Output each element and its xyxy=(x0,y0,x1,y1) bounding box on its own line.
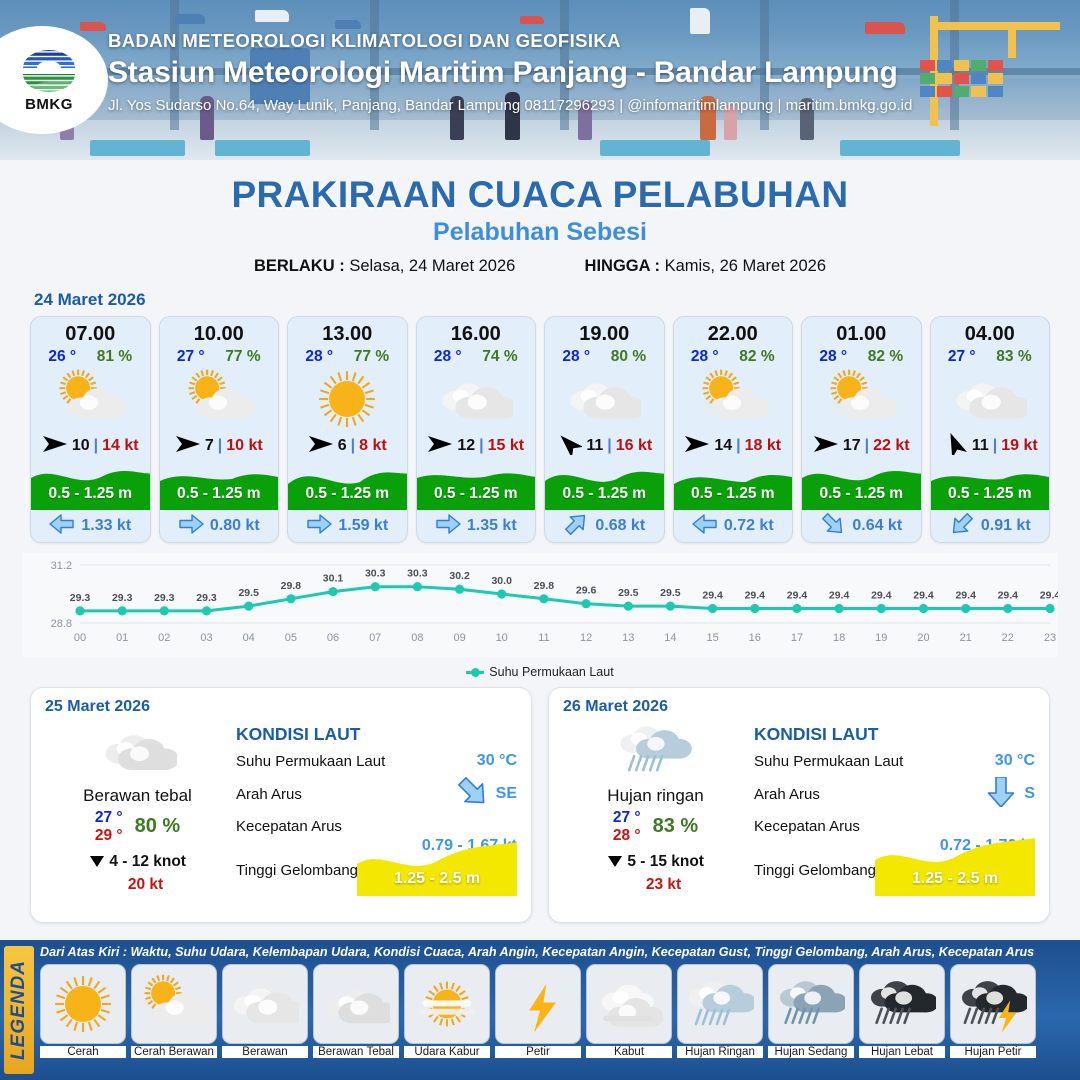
crane-arm-icon xyxy=(930,22,1060,30)
card-temp-humidity: 26 ° 81 % xyxy=(31,346,150,366)
svg-text:29.4: 29.4 xyxy=(702,590,723,602)
hujan-lebat-icon xyxy=(859,964,945,1044)
container-icon xyxy=(937,73,952,84)
card-wave-height: 0.5 - 1.25 m xyxy=(931,485,1050,503)
container-icon xyxy=(920,60,935,71)
sst-label: Suhu Permukaan Laut xyxy=(236,753,385,770)
svg-text:01: 01 xyxy=(116,632,128,644)
day-temp-min: 27 ° xyxy=(613,809,641,827)
legend-item-label: Hujan Petir xyxy=(950,1046,1036,1058)
day-humidity: 83 % xyxy=(653,815,699,838)
day-temp-max: 29 ° xyxy=(95,827,123,845)
legend-item: Hujan Lebat xyxy=(859,964,945,1058)
berawan-icon xyxy=(222,964,308,1044)
svg-text:29.5: 29.5 xyxy=(238,587,259,599)
chart-legend-label: Suhu Permukaan Laut xyxy=(489,665,613,679)
legend-item-label: Petir xyxy=(495,1046,581,1058)
card-humidity: 77 % xyxy=(225,348,260,366)
card-humidity: 80 % xyxy=(611,348,646,366)
svg-text:29.4: 29.4 xyxy=(745,590,766,602)
svg-text:18: 18 xyxy=(833,632,845,644)
current-direction-value: SE xyxy=(496,785,517,803)
card-gust: 19 kt xyxy=(1001,437,1037,455)
chart-legend: Suhu Permukaan Laut xyxy=(0,665,1080,679)
cerah-icon xyxy=(40,964,126,1044)
forecast-date-heading: 24 Maret 2026 xyxy=(34,290,1080,310)
svg-text:29.4: 29.4 xyxy=(913,590,934,602)
container-icon xyxy=(988,73,1003,84)
card-temp-humidity: 28 ° 80 % xyxy=(545,346,664,366)
day-wind: 4 - 12 knot xyxy=(45,853,230,873)
valid-to-value: Kamis, 26 Maret 2026 xyxy=(665,257,826,275)
svg-text:06: 06 xyxy=(327,632,339,644)
svg-text:29.4: 29.4 xyxy=(787,590,808,602)
legend-item-label: Hujan Ringan xyxy=(677,1046,763,1058)
svg-text:21: 21 xyxy=(960,632,972,644)
card-wave: 0.5 - 1.25 m xyxy=(674,460,793,510)
svg-text:30.3: 30.3 xyxy=(365,568,386,580)
chart-legend-marker xyxy=(466,671,484,674)
contact-line: Jl. Yos Sudarso No.64, Way Lunik, Panjan… xyxy=(108,97,912,114)
legend-item-label: Hujan Sedang xyxy=(768,1046,854,1058)
svg-text:16: 16 xyxy=(749,632,761,644)
current-direction-arrow-icon xyxy=(820,513,846,540)
sea-condition-block: KONDISI LAUT Suhu Permukaan Laut 30 °C A… xyxy=(748,716,1035,894)
hourly-forecast-row: 07.00 26 ° 81 % 10 | 14 kt 0.5 - 1.25 m xyxy=(0,316,1080,543)
valid-from-value: Selasa, 24 Maret 2026 xyxy=(349,257,515,275)
day-left-block: Berawan tebal 27 ° 29 ° 80 % 4 - 12 knot… xyxy=(45,716,230,894)
container-icon xyxy=(971,86,986,97)
card-wind: 11 | 16 kt xyxy=(545,432,664,460)
cerah-berawan-icon xyxy=(802,366,921,432)
card-humidity: 82 % xyxy=(739,348,774,366)
card-wave-height: 0.5 - 1.25 m xyxy=(417,485,536,503)
card-current-speed: 0.68 kt xyxy=(595,517,645,535)
svg-text:09: 09 xyxy=(453,632,465,644)
current-direction-value: S xyxy=(1024,785,1035,803)
card-temperature: 27 ° xyxy=(177,348,205,366)
forecast-card: 04.00 27 ° 83 % 11 | 19 kt 0 xyxy=(930,316,1051,543)
waiting-chairs-icon xyxy=(90,140,185,156)
port-name: Pelabuhan Sebesi xyxy=(0,218,1080,247)
legend-item-label: Udara Kabur xyxy=(404,1046,490,1058)
card-current-speed: 0.91 kt xyxy=(981,517,1031,535)
cerah-berawan-icon xyxy=(674,366,793,432)
cerah-berawan-icon xyxy=(31,366,150,432)
forecast-card: 10.00 27 ° 77 % 7 | 10 kt 0.5 - 1.25 m xyxy=(159,316,280,543)
card-time: 04.00 xyxy=(931,317,1050,346)
day-temp-max: 28 ° xyxy=(613,827,641,845)
bmkg-logo-mark xyxy=(21,48,77,94)
card-wind-speed: 10 xyxy=(72,437,90,455)
current-direction-arrow-icon xyxy=(435,513,461,540)
boat-icon xyxy=(80,22,106,31)
svg-text:04: 04 xyxy=(243,632,255,644)
daily-forecast-row: 25 Maret 2026 Berawan tebal 27 ° 29 ° 80… xyxy=(0,679,1080,923)
legend-tab: LEGENDA xyxy=(4,946,34,1074)
card-temp-humidity: 27 ° 77 % xyxy=(160,346,279,366)
legend-tab-label: LEGENDA xyxy=(8,960,30,1060)
svg-text:00: 00 xyxy=(74,632,86,644)
forecast-card: 19.00 28 ° 80 % 11 | 16 kt 0 xyxy=(544,316,665,543)
day-wind-range: 5 - 15 knot xyxy=(627,853,704,870)
svg-text:14: 14 xyxy=(664,632,676,644)
wind-direction-arrow-icon xyxy=(308,433,334,460)
cerah-icon xyxy=(288,366,407,432)
card-wind-speed: 11 xyxy=(972,437,989,455)
legend-item: Hujan Petir xyxy=(950,964,1036,1058)
card-temp-humidity: 28 ° 82 % xyxy=(674,346,793,366)
wind-direction-arrow-icon xyxy=(942,433,968,460)
hujan-ringan-icon xyxy=(563,718,748,782)
card-wind: 10 | 14 kt xyxy=(31,432,150,460)
svg-text:29.3: 29.3 xyxy=(154,592,175,604)
card-temp-humidity: 28 ° 77 % xyxy=(288,346,407,366)
card-gust: 22 kt xyxy=(873,437,909,455)
day-date: 26 Maret 2026 xyxy=(563,698,1035,716)
day-humidity: 80 % xyxy=(135,815,181,838)
legend-item: Hujan Sedang xyxy=(768,964,854,1058)
card-current-speed: 1.59 kt xyxy=(338,517,388,535)
agency-name: BADAN METEOROLOGI KLIMATOLOGI DAN GEOFIS… xyxy=(108,30,912,52)
card-temp-humidity: 28 ° 82 % xyxy=(802,346,921,366)
svg-text:29.5: 29.5 xyxy=(618,587,639,599)
crane-icon xyxy=(930,16,938,126)
wind-separator: | xyxy=(479,437,483,455)
card-wind: 7 | 10 kt xyxy=(160,432,279,460)
card-current: 0.80 kt xyxy=(160,510,279,542)
day-wind-range: 4 - 12 knot xyxy=(109,853,186,870)
card-wind-speed: 7 xyxy=(205,437,214,455)
card-wind: 17 | 22 kt xyxy=(802,432,921,460)
card-time: 22.00 xyxy=(674,317,793,346)
container-icon xyxy=(937,86,952,97)
legend-item: Berawan xyxy=(222,964,308,1058)
svg-text:29.4: 29.4 xyxy=(871,590,892,602)
legend-item: Berawan Tebal xyxy=(313,964,399,1058)
current-speed-label: Kecepatan Arus xyxy=(754,818,1035,835)
card-wave-height: 0.5 - 1.25 m xyxy=(160,485,279,503)
card-humidity: 82 % xyxy=(868,348,903,366)
wind-direction-arrow-icon xyxy=(684,433,710,460)
legend-item: Cerah Berawan xyxy=(131,964,217,1058)
container-icon xyxy=(954,73,969,84)
wind-separator: | xyxy=(993,437,997,455)
wind-separator: | xyxy=(351,437,355,455)
crane-hook-icon xyxy=(1008,28,1016,58)
card-gust: 18 kt xyxy=(745,437,781,455)
legend-note: Dari Atas Kiri : Waktu, Suhu Udara, Kele… xyxy=(40,945,1076,959)
svg-text:30.2: 30.2 xyxy=(449,570,470,582)
cerah-berawan-icon xyxy=(160,366,279,432)
container-icon xyxy=(937,60,952,71)
svg-text:28.8: 28.8 xyxy=(51,618,72,630)
wind-separator: | xyxy=(607,437,611,455)
svg-text:29.4: 29.4 xyxy=(829,590,850,602)
svg-text:30.1: 30.1 xyxy=(323,573,344,585)
svg-text:15: 15 xyxy=(706,632,718,644)
legend-items: Cerah Cerah Berawan Berawan Berawan Teba… xyxy=(40,964,1078,1058)
card-gust: 15 kt xyxy=(488,437,524,455)
svg-text:29.3: 29.3 xyxy=(112,592,133,604)
waiting-chairs-icon xyxy=(600,140,710,156)
forecast-card: 13.00 28 ° 77 % 6 | 8 kt 0.5 - 1.25 m 1.… xyxy=(287,316,408,543)
card-wind-speed: 14 xyxy=(714,437,732,455)
daily-forecast-panel: 26 Maret 2026 Hujan ringan 27 ° 28 ° 83 … xyxy=(548,687,1050,923)
svg-text:29.8: 29.8 xyxy=(534,580,555,592)
svg-text:02: 02 xyxy=(158,632,170,644)
udara-kabur-icon xyxy=(404,964,490,1044)
current-direction-arrow-icon xyxy=(563,513,589,540)
card-time: 10.00 xyxy=(160,317,279,346)
station-name: Stasiun Meteorologi Maritim Panjang - Ba… xyxy=(108,56,912,90)
card-time: 19.00 xyxy=(545,317,664,346)
wave-height-badge: 1.25 - 2.5 m xyxy=(875,834,1035,896)
svg-text:10: 10 xyxy=(496,632,508,644)
boat-icon xyxy=(335,20,361,29)
berawan-tebal-icon xyxy=(45,718,230,782)
legend-item: Cerah xyxy=(40,964,126,1058)
wave-height-value: 1.25 - 2.5 m xyxy=(875,870,1035,888)
container-icon xyxy=(988,60,1003,71)
boat-icon xyxy=(175,14,205,24)
card-wave: 0.5 - 1.25 m xyxy=(802,460,921,510)
arrow-southeast-icon xyxy=(456,777,490,811)
card-wind: 6 | 8 kt xyxy=(288,432,407,460)
wind-direction-arrow-icon xyxy=(556,433,582,460)
card-temperature: 28 ° xyxy=(819,348,847,366)
card-wave: 0.5 - 1.25 m xyxy=(31,460,150,510)
forecast-card: 01.00 28 ° 82 % 17 | 22 kt 0.5 - 1.25 m xyxy=(801,316,922,543)
card-gust: 14 kt xyxy=(102,437,138,455)
card-wave-height: 0.5 - 1.25 m xyxy=(674,485,793,503)
svg-text:22: 22 xyxy=(1002,632,1014,644)
svg-text:29.6: 29.6 xyxy=(576,585,597,597)
arrow-south-icon xyxy=(984,777,1018,811)
wind-separator: | xyxy=(94,437,98,455)
waiting-chairs-icon xyxy=(215,140,310,156)
card-temperature: 26 ° xyxy=(48,348,76,366)
sst-value: 30 °C xyxy=(995,752,1035,770)
card-humidity: 74 % xyxy=(482,348,517,366)
legend-item: Kabut xyxy=(586,964,672,1058)
legend-item: Udara Kabur xyxy=(404,964,490,1058)
svg-text:29.4: 29.4 xyxy=(1040,590,1058,602)
cerah-berawan-icon xyxy=(131,964,217,1044)
day-wind: 5 - 15 knot xyxy=(563,853,748,873)
svg-text:17: 17 xyxy=(791,632,803,644)
page-title: PRAKIRAAN CUACA PELABUHAN xyxy=(0,174,1080,216)
wind-direction-arrow-icon xyxy=(427,433,453,460)
svg-text:29.8: 29.8 xyxy=(281,580,302,592)
current-direction-arrow-icon xyxy=(692,513,718,540)
wave-height-badge: 1.25 - 2.5 m xyxy=(357,834,517,896)
svg-text:07: 07 xyxy=(369,632,381,644)
day-wind-direction-icon xyxy=(607,855,623,872)
card-temperature: 28 ° xyxy=(305,348,333,366)
svg-text:31.2: 31.2 xyxy=(51,560,72,572)
card-temp-humidity: 28 ° 74 % xyxy=(417,346,536,366)
legend-item-label: Cerah Berawan xyxy=(131,1046,217,1058)
day-condition: Berawan tebal xyxy=(45,786,230,806)
svg-text:12: 12 xyxy=(580,632,592,644)
berawan-icon xyxy=(931,366,1050,432)
card-wind: 14 | 18 kt xyxy=(674,432,793,460)
card-wave: 0.5 - 1.25 m xyxy=(288,460,407,510)
sea-condition-title: KONDISI LAUT xyxy=(236,724,517,745)
legend-item-label: Kabut xyxy=(586,1046,672,1058)
card-wave: 0.5 - 1.25 m xyxy=(160,460,279,510)
card-current: 1.59 kt xyxy=(288,510,407,542)
current-direction-arrow-icon xyxy=(49,513,75,540)
svg-text:08: 08 xyxy=(411,632,423,644)
berawan-tebal-icon xyxy=(313,964,399,1044)
sea-condition-title: KONDISI LAUT xyxy=(754,724,1035,745)
card-current: 0.91 kt xyxy=(931,510,1050,542)
card-wind-speed: 6 xyxy=(338,437,347,455)
legend-item: Petir xyxy=(495,964,581,1058)
valid-from-label: BERLAKU : xyxy=(254,257,345,275)
card-current-speed: 0.80 kt xyxy=(210,517,260,535)
wind-direction-arrow-icon xyxy=(42,433,68,460)
day-temp-min: 27 ° xyxy=(95,809,123,827)
svg-text:29.3: 29.3 xyxy=(70,592,91,604)
card-humidity: 77 % xyxy=(354,348,389,366)
card-gust: 8 kt xyxy=(359,437,387,455)
card-temperature: 27 ° xyxy=(948,348,976,366)
legend-strip: LEGENDA Dari Atas Kiri : Waktu, Suhu Uda… xyxy=(0,940,1080,1080)
card-gust: 16 kt xyxy=(616,437,652,455)
card-temperature: 28 ° xyxy=(562,348,590,366)
card-wave-height: 0.5 - 1.25 m xyxy=(31,485,150,503)
current-direction-arrow-icon xyxy=(306,513,332,540)
card-wave-height: 0.5 - 1.25 m xyxy=(802,485,921,503)
petir-icon xyxy=(495,964,581,1044)
wind-separator: | xyxy=(218,437,222,455)
card-wind: 12 | 15 kt xyxy=(417,432,536,460)
header-text-block: BADAN METEOROLOGI KLIMATOLOGI DAN GEOFIS… xyxy=(108,30,912,114)
forecast-card: 16.00 28 ° 74 % 12 | 15 kt 0 xyxy=(416,316,537,543)
card-wave: 0.5 - 1.25 m xyxy=(417,460,536,510)
valid-to-label: HINGGA : xyxy=(585,257,660,275)
validity-range: BERLAKU : Selasa, 24 Maret 2026 HINGGA :… xyxy=(0,257,1080,276)
card-temperature: 28 ° xyxy=(434,348,462,366)
title-block: PRAKIRAAN CUACA PELABUHAN Pelabuhan Sebe… xyxy=(0,174,1080,276)
card-wind-speed: 17 xyxy=(843,437,861,455)
wind-separator: | xyxy=(736,437,740,455)
card-current-speed: 1.35 kt xyxy=(467,517,517,535)
container-icon xyxy=(971,60,986,71)
sst-label: Suhu Permukaan Laut xyxy=(754,753,903,770)
sst-value: 30 °C xyxy=(477,752,517,770)
card-time: 01.00 xyxy=(802,317,921,346)
card-current-speed: 0.72 kt xyxy=(724,517,774,535)
sst-chart: 31.228.829.30029.30129.30229.30329.50429… xyxy=(22,553,1058,663)
current-speed-label: Kecepatan Arus xyxy=(236,818,517,835)
card-wind-speed: 11 xyxy=(586,437,603,455)
legend-item-label: Cerah xyxy=(40,1046,126,1058)
kabut-icon xyxy=(586,964,672,1044)
svg-text:29.3: 29.3 xyxy=(196,592,217,604)
card-current-speed: 0.64 kt xyxy=(852,517,902,535)
card-temperature: 28 ° xyxy=(691,348,719,366)
legend-item-label: Berawan xyxy=(222,1046,308,1058)
svg-text:19: 19 xyxy=(875,632,887,644)
card-humidity: 81 % xyxy=(97,348,132,366)
waiting-chairs-icon xyxy=(840,140,960,156)
day-gust: 20 kt xyxy=(45,876,230,894)
boat-icon xyxy=(255,10,289,22)
hujan-petir-icon xyxy=(950,964,1036,1044)
container-icon xyxy=(954,60,969,71)
card-time: 13.00 xyxy=(288,317,407,346)
card-current: 1.33 kt xyxy=(31,510,150,542)
legend-item: Hujan Ringan xyxy=(677,964,763,1058)
wave-height-value: 1.25 - 2.5 m xyxy=(357,870,517,888)
svg-text:29.5: 29.5 xyxy=(660,587,681,599)
legend-item-label: Berawan Tebal xyxy=(313,1046,399,1058)
container-icon xyxy=(971,73,986,84)
forecast-card: 22.00 28 ° 82 % 14 | 18 kt 0.5 - 1.25 m xyxy=(673,316,794,543)
day-wind-direction-icon xyxy=(89,855,105,872)
card-time: 07.00 xyxy=(31,317,150,346)
card-wave: 0.5 - 1.25 m xyxy=(545,460,664,510)
card-current: 1.35 kt xyxy=(417,510,536,542)
card-temp-humidity: 27 ° 83 % xyxy=(931,346,1050,366)
card-humidity: 83 % xyxy=(996,348,1031,366)
card-time: 16.00 xyxy=(417,317,536,346)
svg-text:29.4: 29.4 xyxy=(998,590,1019,602)
svg-text:03: 03 xyxy=(200,632,212,644)
hujan-ringan-icon xyxy=(677,964,763,1044)
hujan-sedang-icon xyxy=(768,964,854,1044)
svg-text:05: 05 xyxy=(285,632,297,644)
current-direction-arrow-icon xyxy=(178,513,204,540)
berawan-icon xyxy=(545,366,664,432)
svg-text:30.3: 30.3 xyxy=(407,568,428,580)
card-wave-height: 0.5 - 1.25 m xyxy=(288,485,407,503)
card-gust: 10 kt xyxy=(226,437,262,455)
day-date: 25 Maret 2026 xyxy=(45,698,517,716)
day-left-block: Hujan ringan 27 ° 28 ° 83 % 5 - 15 knot … xyxy=(563,716,748,894)
berawan-icon xyxy=(417,366,536,432)
svg-text:30.0: 30.0 xyxy=(491,575,512,587)
day-gust: 23 kt xyxy=(563,876,748,894)
card-wind: 11 | 19 kt xyxy=(931,432,1050,460)
legend-item-label: Hujan Lebat xyxy=(859,1046,945,1058)
current-direction-label: Arah Arus xyxy=(236,786,302,803)
wind-direction-arrow-icon xyxy=(175,433,201,460)
current-direction-arrow-icon xyxy=(949,513,975,540)
container-icon xyxy=(988,86,1003,97)
bmkg-logo-text: BMKG xyxy=(25,96,73,113)
card-current: 0.68 kt xyxy=(545,510,664,542)
card-wave: 0.5 - 1.25 m xyxy=(931,460,1050,510)
svg-text:29.4: 29.4 xyxy=(955,590,976,602)
sea-condition-block: KONDISI LAUT Suhu Permukaan Laut 30 °C A… xyxy=(230,716,517,894)
card-current: 0.72 kt xyxy=(674,510,793,542)
page-header: BMKG BADAN METEOROLOGI KLIMATOLOGI DAN G… xyxy=(0,0,1080,160)
daily-forecast-panel: 25 Maret 2026 Berawan tebal 27 ° 29 ° 80… xyxy=(30,687,532,923)
svg-text:23: 23 xyxy=(1044,632,1056,644)
wind-separator: | xyxy=(865,437,869,455)
svg-text:13: 13 xyxy=(622,632,634,644)
boat-icon xyxy=(520,16,544,24)
day-condition: Hujan ringan xyxy=(563,786,748,806)
card-wave-height: 0.5 - 1.25 m xyxy=(545,485,664,503)
container-icon xyxy=(954,86,969,97)
card-wind-speed: 12 xyxy=(457,437,475,455)
